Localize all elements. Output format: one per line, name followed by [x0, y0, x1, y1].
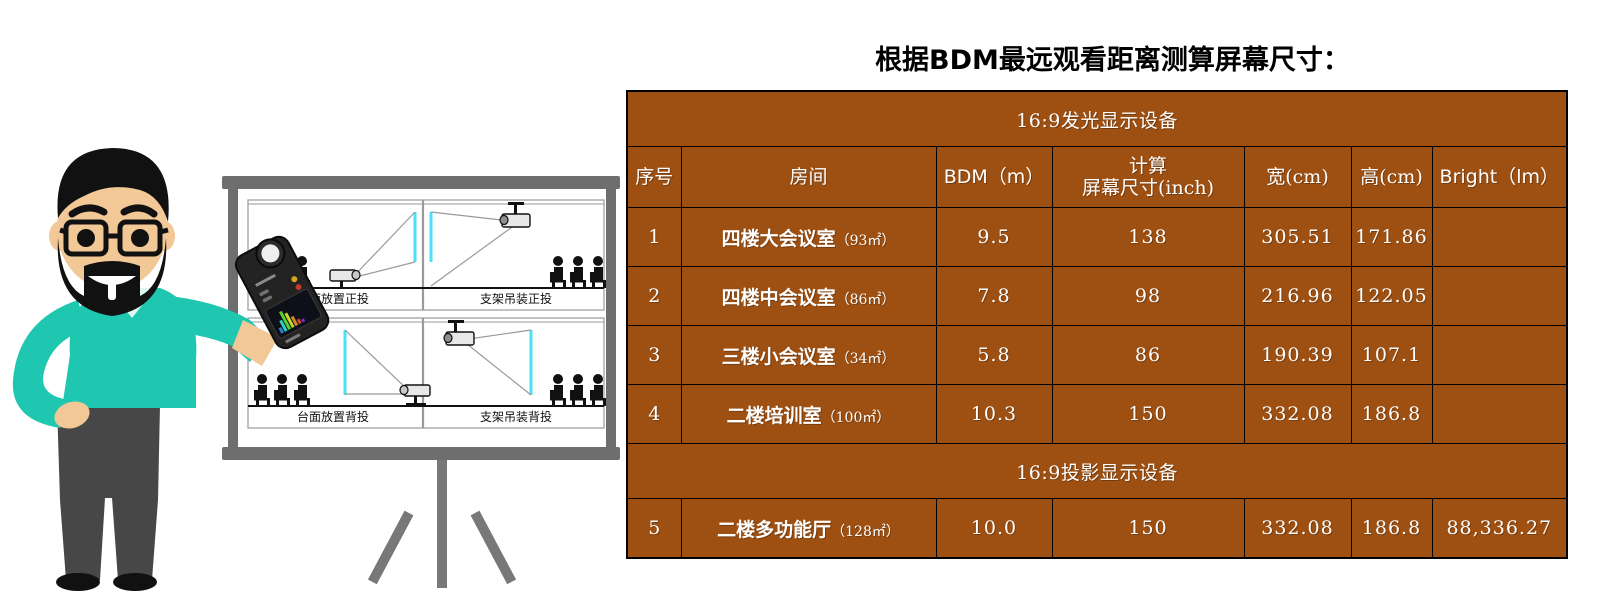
- table-row: 2 四楼中会议室（86㎡） 7.8 98 216.96 122.05: [627, 267, 1567, 326]
- pants: [57, 405, 160, 580]
- section-band-label-led: 16:9发光显示设备: [627, 91, 1567, 147]
- presenter-and-screen-illustration: 台面放置正投 支架吊装正投 台面放置背投 支架吊装背投: [0, 0, 625, 596]
- cell-width: 332.08: [1244, 385, 1351, 444]
- col-header-screen-size: 计算 屏幕尺寸(inch): [1052, 147, 1244, 208]
- room-name: 四楼中会议室: [722, 287, 836, 309]
- col-header-index: 序号: [627, 147, 681, 208]
- table-row: 4 二楼培训室（100㎡） 10.3 150 332.08 186.8: [627, 385, 1567, 444]
- cell-screen-inch: 150: [1052, 385, 1244, 444]
- table-row: 5 二楼多功能厅（128㎡） 10.0 150 332.08 186.8 88,…: [627, 499, 1567, 559]
- cell-width: 216.96: [1244, 267, 1351, 326]
- screen-size-table: 16:9发光显示设备 序号 房间 BDM（m） 计算 屏幕尺寸(inch) 宽(…: [626, 90, 1568, 559]
- page-title: 根据BDM最远观看距离测算屏幕尺寸：: [625, 38, 1600, 77]
- ear-right: [153, 221, 175, 251]
- room-name: 二楼多功能厅: [717, 519, 831, 541]
- cell-bdm: 10.0: [936, 499, 1052, 559]
- col-header-room: 房间: [681, 147, 936, 208]
- col-header-screen-size-line2: 屏幕尺寸(inch): [1082, 177, 1214, 199]
- col-header-width: 宽(cm): [1244, 147, 1351, 208]
- illustration-panel: 台面放置正投 支架吊装正投 台面放置背投 支架吊装背投: [0, 0, 625, 596]
- col-header-height: 高(cm): [1351, 147, 1432, 208]
- cell-room: 二楼培训室（100㎡）: [681, 385, 936, 444]
- col-header-bdm: BDM（m）: [936, 147, 1052, 208]
- cell-screen-inch: 98: [1052, 267, 1244, 326]
- label-bottom-left: 台面放置背投: [297, 409, 369, 424]
- shoe-right: [113, 573, 157, 591]
- table-row: 1 四楼大会议室（93㎡） 9.5 138 305.51 171.86: [627, 208, 1567, 267]
- cell-room: 二楼多功能厅（128㎡）: [681, 499, 936, 559]
- label-bottom-right: 支架吊装背投: [480, 409, 552, 424]
- cell-screen-inch: 86: [1052, 326, 1244, 385]
- table-header-row: 序号 房间 BDM（m） 计算 屏幕尺寸(inch) 宽(cm) 高(cm) B…: [627, 147, 1567, 208]
- cell-bright: [1432, 326, 1567, 385]
- chin-patch: [108, 276, 116, 300]
- cell-width: 305.51: [1244, 208, 1351, 267]
- eye-left: [77, 229, 95, 247]
- cell-index: 4: [627, 385, 681, 444]
- cell-height: 122.05: [1351, 267, 1432, 326]
- cell-height: 186.8: [1351, 499, 1432, 559]
- section-band-row-led: 16:9发光显示设备: [627, 91, 1567, 147]
- tripod-stand: [368, 460, 516, 588]
- room-name: 三楼小会议室: [722, 346, 836, 368]
- label-top-right: 支架吊装正投: [480, 291, 552, 306]
- room-area: （100㎡）: [822, 410, 891, 426]
- cell-bdm: 9.5: [936, 208, 1052, 267]
- room-area: （93㎡）: [836, 233, 896, 249]
- section-band-row-projection: 16:9投影显示设备: [627, 444, 1567, 499]
- cell-room: 四楼中会议室（86㎡）: [681, 267, 936, 326]
- cell-bdm: 7.8: [936, 267, 1052, 326]
- cell-height: 186.8: [1351, 385, 1432, 444]
- cell-room: 四楼大会议室（93㎡）: [681, 208, 936, 267]
- cell-screen-inch: 138: [1052, 208, 1244, 267]
- cell-bright: 88,336.27: [1432, 499, 1567, 559]
- room-name: 二楼培训室: [727, 405, 822, 427]
- cell-bright: [1432, 385, 1567, 444]
- cell-bdm: 10.3: [936, 385, 1052, 444]
- room-name: 四楼大会议室: [722, 228, 836, 250]
- col-header-screen-size-line1: 计算: [1129, 155, 1167, 177]
- cell-width: 190.39: [1244, 326, 1351, 385]
- cell-index: 5: [627, 499, 681, 559]
- room-area: （128㎡）: [831, 524, 900, 540]
- cell-room: 三楼小会议室（34㎡）: [681, 326, 936, 385]
- shoe-left: [56, 573, 100, 591]
- cell-height: 107.1: [1351, 326, 1432, 385]
- section-band-label-projection: 16:9投影显示设备: [627, 444, 1567, 499]
- cell-height: 171.86: [1351, 208, 1432, 267]
- cell-screen-inch: 150: [1052, 499, 1244, 559]
- room-area: （34㎡）: [836, 351, 896, 367]
- cell-index: 2: [627, 267, 681, 326]
- cell-width: 332.08: [1244, 499, 1351, 559]
- cell-index: 3: [627, 326, 681, 385]
- room-area: （86㎡）: [836, 292, 896, 308]
- eye-right: [131, 229, 149, 247]
- table-row: 3 三楼小会议室（34㎡） 5.8 86 190.39 107.1: [627, 326, 1567, 385]
- cell-bright: [1432, 267, 1567, 326]
- spec-panel: 根据BDM最远观看距离测算屏幕尺寸： 16:9发光显示设备 序号 房间 BDM（…: [625, 0, 1600, 596]
- spec-table-wrap: 16:9发光显示设备 序号 房间 BDM（m） 计算 屏幕尺寸(inch) 宽(…: [626, 90, 1566, 559]
- cell-index: 1: [627, 208, 681, 267]
- cell-bdm: 5.8: [936, 326, 1052, 385]
- col-header-bright: Bright（lm）: [1432, 147, 1567, 208]
- cell-bright: [1432, 208, 1567, 267]
